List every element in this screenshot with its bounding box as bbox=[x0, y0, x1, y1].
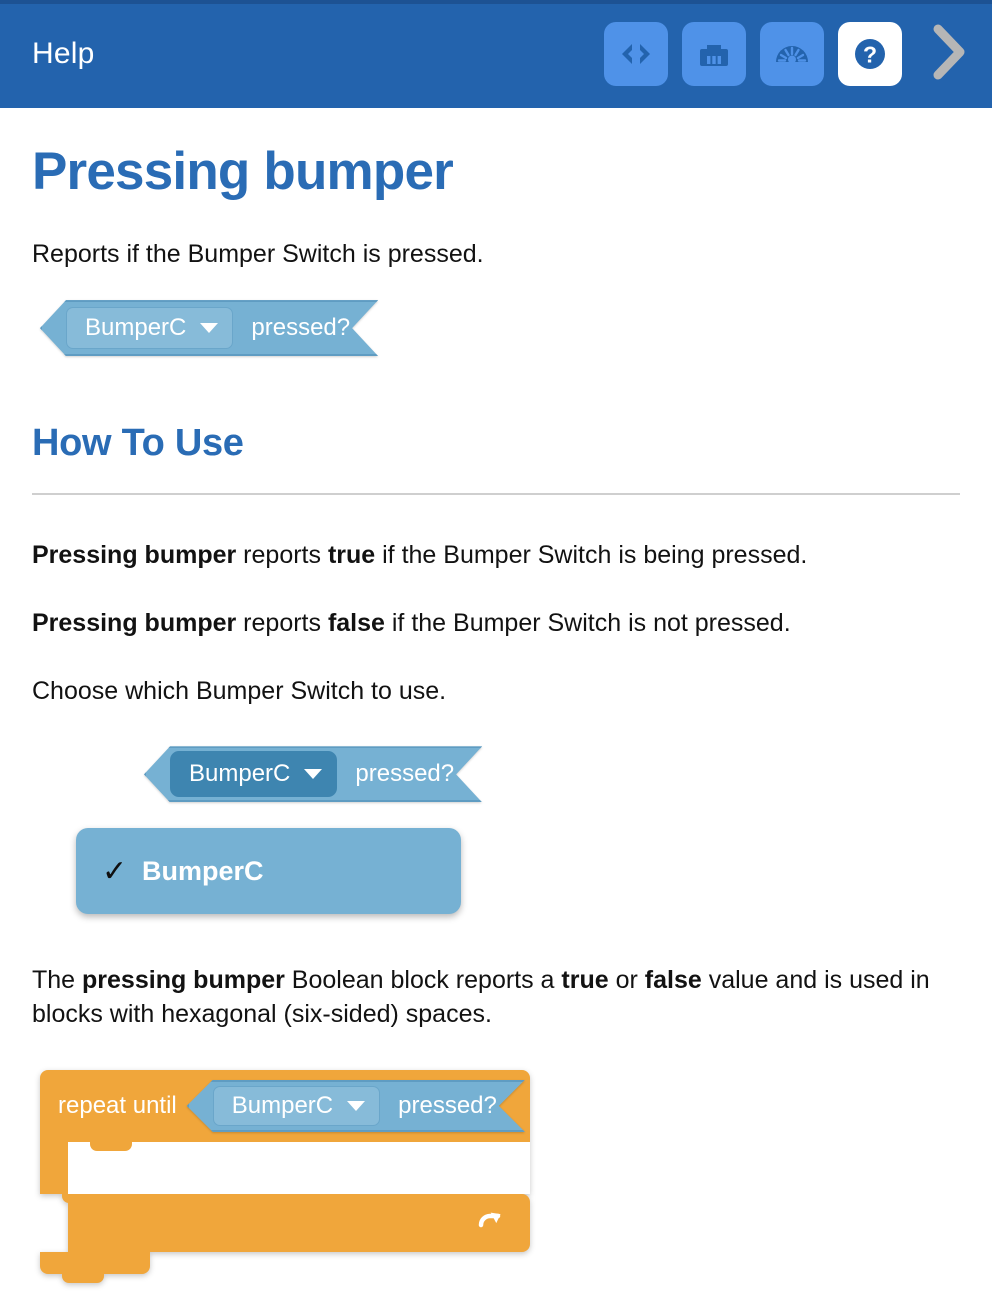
block-pressing-bumper[interactable]: BumperC pressed? bbox=[40, 300, 960, 356]
help-article: Pressing bumper Reports if the Bumper Sw… bbox=[0, 108, 992, 1304]
chevron-down-icon bbox=[200, 323, 218, 333]
bumper-port-dropdown-open[interactable]: BumperC bbox=[170, 751, 337, 797]
block-label-pressed: pressed? bbox=[398, 1092, 497, 1120]
paragraph-choose: Choose which Bumper Switch to use. bbox=[32, 675, 960, 709]
bumper-port-dropdown[interactable]: BumperC bbox=[66, 307, 233, 349]
chevron-down-icon bbox=[304, 769, 322, 779]
bumper-port-value: BumperC bbox=[85, 314, 186, 342]
code-icon-button[interactable] bbox=[604, 22, 668, 86]
app-header: Help bbox=[0, 0, 992, 108]
repeat-until-slot[interactable] bbox=[40, 1142, 530, 1194]
loop-arrow-icon bbox=[474, 1203, 508, 1242]
page-description: Reports if the Bumper Switch is pressed. bbox=[32, 238, 960, 271]
dashboard-icon-button[interactable] bbox=[760, 22, 824, 86]
svg-text:?: ? bbox=[863, 42, 877, 68]
section-divider bbox=[32, 493, 960, 495]
block-label-pressed: pressed? bbox=[355, 760, 454, 788]
repeat-until-base bbox=[40, 1252, 150, 1274]
chevron-right-icon bbox=[930, 24, 966, 85]
bumper-port-value-open: BumperC bbox=[189, 760, 290, 788]
repeat-until-header: repeat until BumperC pressed? bbox=[40, 1070, 530, 1142]
port-dropdown-menu: ✓ BumperC bbox=[76, 828, 461, 914]
page-title: Pressing bumper bbox=[32, 144, 960, 200]
brain-icon bbox=[694, 34, 734, 74]
paragraph-true: Pressing bumper reports true if the Bump… bbox=[32, 539, 960, 573]
brain-icon-button[interactable] bbox=[682, 22, 746, 86]
check-icon: ✓ bbox=[102, 854, 142, 889]
header-toolbar: ? bbox=[604, 22, 974, 86]
repeat-until-label: repeat until bbox=[58, 1092, 177, 1120]
page-header-title: Help bbox=[32, 37, 95, 71]
code-icon bbox=[616, 34, 656, 74]
paragraph-false: Pressing bumper reports false if the Bum… bbox=[32, 607, 960, 641]
bumper-port-value-loop: BumperC bbox=[232, 1092, 333, 1120]
repeat-until-footer bbox=[68, 1194, 530, 1252]
menu-pointer bbox=[231, 828, 287, 856]
paragraph-boolean-usage: The pressing bumper Boolean block report… bbox=[32, 964, 932, 1032]
block-pressing-bumper-open[interactable]: BumperC pressed? bbox=[144, 746, 960, 802]
dashboard-icon bbox=[772, 34, 812, 74]
menu-item-bumperc[interactable]: BumperC bbox=[142, 856, 264, 887]
help-icon: ? bbox=[849, 33, 891, 75]
help-icon-button[interactable]: ? bbox=[838, 22, 902, 86]
block-repeat-until[interactable]: repeat until BumperC pressed? bbox=[40, 1070, 530, 1274]
section-title-how-to-use: How To Use bbox=[32, 422, 960, 465]
chevron-down-icon bbox=[347, 1101, 365, 1111]
next-button[interactable] bbox=[922, 22, 974, 86]
bumper-port-dropdown-in-loop[interactable]: BumperC bbox=[213, 1086, 380, 1126]
block-label-pressed: pressed? bbox=[251, 314, 350, 342]
